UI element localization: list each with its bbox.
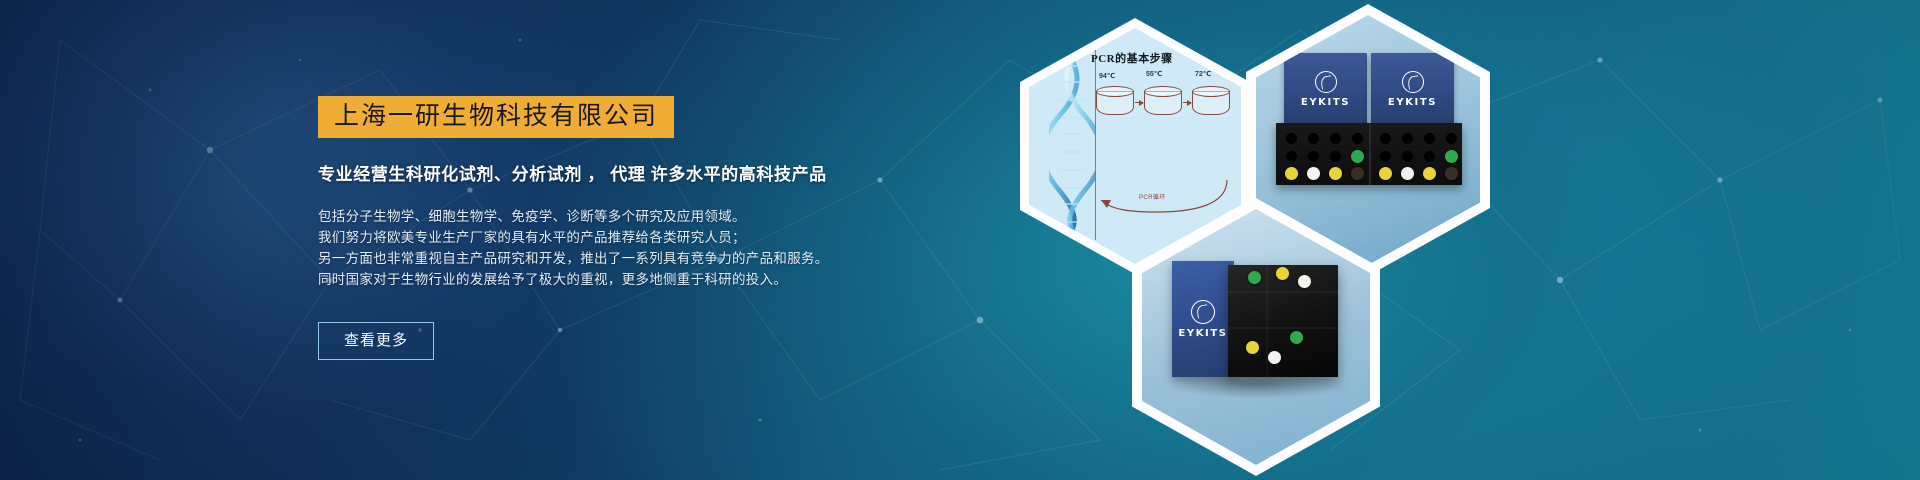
vial-cap-green [1445,150,1458,163]
description-line-4: 同时国家对于生物行业的发展给予了极大的重视，更多地侧重于科研的投入。 [318,269,1078,290]
vial-cap-yellow [1329,167,1342,180]
hexagon-image-cluster: PCR的基本步骤 94℃ 55℃ 72℃ [1020,0,1540,480]
vial-cap-white [1307,167,1320,180]
page-title: 上海一研生物科技有限公司 [318,96,674,138]
vial-cap-white [1268,351,1281,364]
view-more-button[interactable]: 查看更多 [318,322,434,360]
pcr-arrow-2 [1183,102,1191,103]
vial-rack [1276,123,1462,185]
vial-cap-yellow [1246,341,1259,354]
pcr-tube-1 [1096,86,1134,116]
pcr-cycle-label: PCR循环 [1139,192,1166,201]
pcr-temp-2: 55℃ [1146,70,1162,78]
description-line-2: 我们努力将欧美专业生产厂家的具有水平的产品推荐给各类研究人员； [318,227,1078,248]
pcr-tube-2 [1144,86,1182,116]
vial-cap-green [1351,150,1364,163]
eykits-logo-icon [1402,71,1424,93]
vial-cap-white [1401,167,1414,180]
pcr-arrow-1 [1135,102,1143,103]
banner-subtitle: 专业经营生科研化试剂、分析试剂 ， 代理 许多水平的高科技产品 [318,160,1078,185]
pcr-tube-3 [1192,86,1230,116]
eykits-logo-icon [1191,300,1215,324]
vial-cap-yellow [1423,167,1436,180]
vial-cap-green [1248,271,1261,284]
product-box-right: EYKITS [1371,53,1454,125]
eykits-logo-icon [1315,71,1337,93]
pcr-temp-3: 72℃ [1195,70,1211,78]
vial-cap-white [1298,275,1311,288]
product-box-pair: EYKITS EYKITS [1284,53,1454,125]
vial-cap-yellow [1285,167,1298,180]
product-pouch-image: EYKITS [1142,209,1370,465]
product-pouch: EYKITS [1172,261,1234,377]
product-box-left: EYKITS [1284,53,1367,125]
vial-cap-yellow [1379,167,1392,180]
vial-cap-brown [1351,167,1364,180]
banner-description: 包括分子生物学、细胞生物学、免疫学、诊断等多个研究及应用领域。 我们努力将欧美专… [318,206,1078,290]
pcr-diagram-title: PCR的基本步骤 [1091,50,1173,66]
vial-cap-yellow [1276,267,1289,280]
brand-label-left: EYKITS [1301,97,1350,108]
banner-content: 上海一研生物科技有限公司 专业经营生科研化试剂、分析试剂 ， 代理 许多水平的高… [318,96,1078,360]
hero-banner: 上海一研生物科技有限公司 专业经营生科研化试剂、分析试剂 ， 代理 许多水平的高… [0,0,1920,480]
dark-kit-case [1228,265,1338,377]
vial-cap-brown [1445,167,1458,180]
brand-label-right: EYKITS [1388,97,1437,108]
brand-label-pouch: EYKITS [1178,328,1227,339]
vial-cap-green [1290,331,1303,344]
pcr-temp-1: 94℃ [1099,72,1115,80]
description-line-3: 另一方面也非常重视自主产品研究和开发，推出了一系列具有竞争力的产品和服务。 [318,248,1078,269]
description-line-1: 包括分子生物学、细胞生物学、免疫学、诊断等多个研究及应用领域。 [318,206,1078,227]
